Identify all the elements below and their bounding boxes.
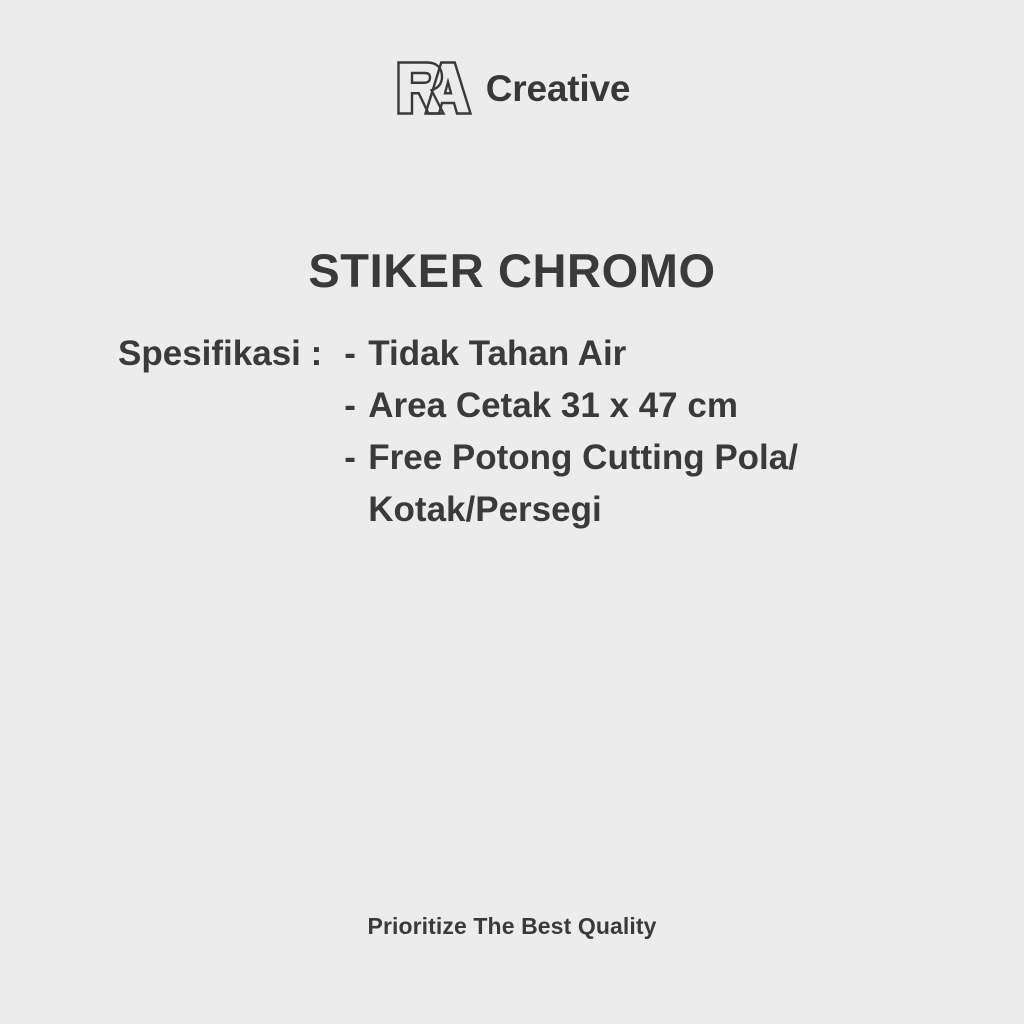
list-item-text: Area Cetak 31 x 47 cm — [368, 380, 738, 432]
bullet-dash: - — [344, 328, 368, 380]
ra-monogram-outline-icon — [394, 58, 472, 118]
bullet-dash: - — [344, 432, 368, 484]
product-card-canvas: Creative STIKER CHROMO Spesifikasi : - T… — [0, 0, 1024, 1024]
list-item: - Tidak Tahan Air — [344, 328, 928, 380]
list-item: - Area Cetak 31 x 47 cm — [344, 380, 928, 432]
brand-lockup: Creative — [0, 58, 1024, 118]
bullet-dash: - — [344, 380, 368, 432]
list-item-text: Tidak Tahan Air — [368, 328, 626, 380]
specification-label: Spesifikasi : — [118, 328, 322, 380]
specification-list: - Tidak Tahan Air - Area Cetak 31 x 47 c… — [344, 328, 928, 536]
brand-wordmark: Creative — [486, 70, 630, 107]
list-item-text: Free Potong Cutting Pola/ Kotak/Persegi — [368, 432, 928, 536]
specification-block: Spesifikasi : - Tidak Tahan Air - Area C… — [118, 328, 928, 536]
list-item: - Free Potong Cutting Pola/ Kotak/Perseg… — [344, 432, 928, 536]
footer-tagline: Prioritize The Best Quality — [0, 913, 1024, 941]
page-title: STIKER CHROMO — [0, 245, 1024, 298]
